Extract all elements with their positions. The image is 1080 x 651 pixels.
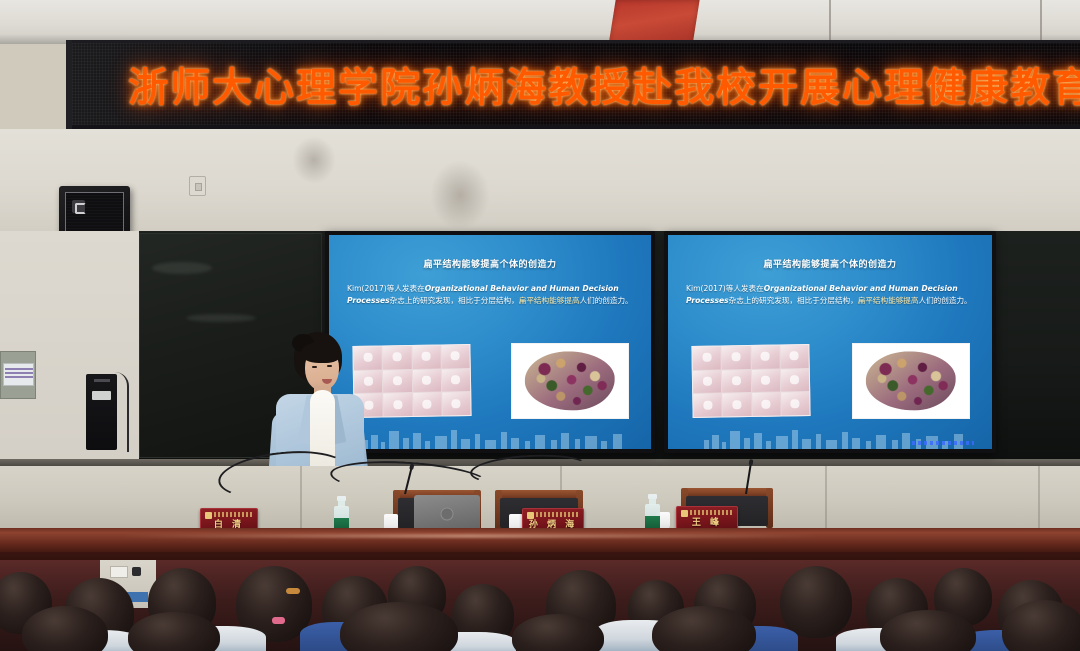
slide-body-highlight: 扁平结构能够提高: [858, 296, 919, 305]
scrolling-led-banner: 浙师大心理学院孙炳海教授赴我校开展心理健康教育专题: [66, 40, 1080, 129]
wall-control-panel[interactable]: [0, 351, 36, 399]
slide-grid-image: [691, 344, 810, 418]
slide-body-tail: 人们的创造力。: [919, 296, 972, 305]
wall-seam: [829, 0, 831, 44]
banner-frame: [66, 40, 72, 129]
table-highlight: [120, 534, 820, 538]
screen-status-led: [912, 441, 974, 445]
laptop[interactable]: [414, 495, 480, 531]
salad-graphic: [525, 351, 615, 410]
right-projection-screen[interactable]: 扁平结构能够提高个体的创造力 Kim(2017)等人发表在Organizatio…: [664, 231, 996, 453]
slide-body-mid: 杂志上的研究发现，相比于分层结构，: [729, 296, 858, 305]
presenter-fringe: [301, 342, 341, 363]
mid-wall: [0, 129, 1080, 231]
head-table-top: [0, 528, 1080, 554]
light-switch[interactable]: [189, 176, 206, 196]
lecture-hall-photo: 浙师大心理学院孙炳海教授赴我校开展心理健康教育专题 扁平结构能够提高个体的创造力…: [0, 0, 1080, 651]
placard-name-text: 王 峰: [677, 515, 737, 528]
slide-salad-image: [852, 343, 970, 419]
slide-skyline-graphic: [668, 423, 992, 449]
led-banner-text: 浙师大心理学院孙炳海教授赴我校开展心理健康教育专题: [128, 55, 1080, 113]
wall-smudge: [292, 136, 336, 184]
slide-title: 扁平结构能够提高个体的创造力: [329, 257, 651, 270]
slide-title: 扁平结构能够提高个体的创造力: [668, 257, 992, 270]
hair-clip: [272, 617, 285, 624]
slide-body-lead: Kim(2017)等人发表在: [347, 284, 425, 293]
slide-body-tail: 人们的创造力。: [580, 296, 633, 305]
water-bottle: [645, 494, 660, 532]
wall-smudge: [430, 160, 490, 230]
upper-wall: [0, 0, 1080, 44]
slide-body-mid: 杂志上的研究发现，相比于分层结构，: [390, 296, 519, 305]
slide-body-highlight: 扁平结构能够提高: [519, 296, 580, 305]
audience-head: [780, 566, 852, 638]
equipment-cable: [113, 372, 129, 452]
wall-seam: [1040, 0, 1042, 44]
slide-salad-image: [511, 343, 629, 419]
salad-graphic: [866, 351, 956, 410]
hair-clip: [286, 588, 300, 594]
right-screen-surface: 扁平结构能够提高个体的创造力 Kim(2017)等人发表在Organizatio…: [668, 235, 992, 449]
speaker-logo-icon: [72, 200, 85, 213]
slide-body-lead: Kim(2017)等人发表在: [686, 284, 764, 293]
